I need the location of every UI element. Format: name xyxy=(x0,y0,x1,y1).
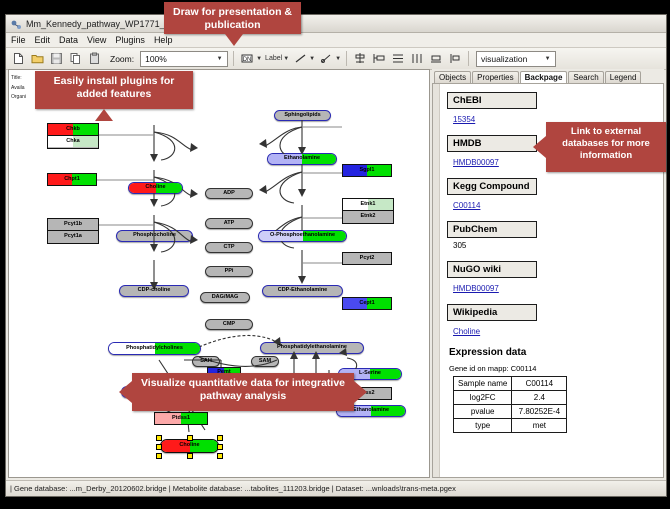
gene-chpt1[interactable]: Chpt1 xyxy=(47,173,97,186)
save-icon[interactable] xyxy=(48,51,64,67)
gene-etnk1[interactable]: Etnk1 xyxy=(343,199,393,211)
callout-visualize-arrow-left xyxy=(119,381,132,403)
resize-handle-sw[interactable] xyxy=(156,453,162,459)
db-link-kegg[interactable]: C00114 xyxy=(453,201,480,210)
db-link-hmdb[interactable]: HMDB00097 xyxy=(453,158,499,167)
callout-visualize: Visualize quantitative data for integrat… xyxy=(132,373,354,411)
table-row: type met xyxy=(454,419,567,433)
db-link-wikipedia[interactable]: Choline xyxy=(453,327,480,336)
backpage-scrollbar[interactable] xyxy=(433,84,440,477)
visualization-value: visualization xyxy=(479,54,542,64)
pathvisio-window: Mm_Kennedy_pathway_WP1771_45176.gpml Fil… xyxy=(5,14,667,497)
resize-handle-e[interactable] xyxy=(217,444,223,450)
table-row: pvalue 7.80252E-4 xyxy=(454,405,567,419)
node-choline-bottom[interactable]: Choline xyxy=(160,439,219,453)
callout-draw-arrow xyxy=(225,34,243,46)
resize-handle-n[interactable] xyxy=(187,435,193,441)
chevron-down-icon[interactable]: ▼ xyxy=(542,52,553,66)
paste-icon[interactable] xyxy=(86,51,102,67)
pathvisio-icon xyxy=(10,18,22,30)
gene-etnk2[interactable]: Etnk2 xyxy=(343,211,393,222)
menu-item-file[interactable]: File xyxy=(11,35,26,45)
expression-table: Sample name C00114 log2FC 2.4 pvalue 7.8… xyxy=(453,376,567,433)
menu-item-view[interactable]: View xyxy=(87,35,106,45)
resize-handle-nw[interactable] xyxy=(156,435,162,441)
right-panel-tabs: Objects Properties Backpage Search Legen… xyxy=(432,69,664,83)
distribute-horizontal-icon[interactable] xyxy=(409,51,425,67)
exp-key-type: type xyxy=(454,419,512,433)
zoom-label: Zoom: xyxy=(110,54,134,64)
exp-val-pvalue: 7.80252E-4 xyxy=(512,405,567,419)
align-left-icon[interactable] xyxy=(371,51,387,67)
gene-chkb[interactable]: Chkb xyxy=(48,124,98,136)
db-link-chebi[interactable]: 15354 xyxy=(453,115,475,124)
expression-data-heading: Expression data xyxy=(449,347,663,358)
visualization-combo[interactable]: visualization ▼ xyxy=(476,51,556,67)
line-icon[interactable] xyxy=(292,51,308,67)
title-bar: Mm_Kennedy_pathway_WP1771_45176.gpml xyxy=(6,15,666,33)
tab-legend[interactable]: Legend xyxy=(605,71,642,83)
distribute-vertical-icon[interactable] xyxy=(390,51,406,67)
callout-plugins-arrow xyxy=(95,109,113,121)
db-header-wikipedia: Wikipedia xyxy=(447,304,537,321)
db-value-pubchem: 305 xyxy=(453,241,663,250)
node-ethanolamine[interactable]: Ethanolamine xyxy=(267,153,337,165)
db-header-hmdb: HMDB xyxy=(447,135,537,152)
tab-search[interactable]: Search xyxy=(568,71,603,83)
table-row: log2FC 2.4 xyxy=(454,391,567,405)
node-ophosphoethanolamine[interactable]: O-Phosphoethanolamine xyxy=(258,230,347,242)
db-header-chebi: ChEBI xyxy=(447,92,537,109)
status-text: | Gene database: ...m_Derby_20120602.bri… xyxy=(10,484,456,493)
exp-val-type: met xyxy=(512,419,567,433)
toolbar-separator xyxy=(233,51,234,66)
tab-backpage[interactable]: Backpage xyxy=(520,71,568,83)
gene-sgpl1[interactable]: Sgpl1 xyxy=(342,164,392,177)
zoom-combo[interactable]: 100% ▼ xyxy=(140,51,228,67)
label-dropdown[interactable]: Label ▼ xyxy=(265,55,289,62)
callout-link: Link to external databases for more info… xyxy=(546,122,666,172)
callout-plugins: Easily install plugins for added feature… xyxy=(35,71,193,109)
gene-group-chk[interactable]: Chkb Chka xyxy=(47,123,99,149)
exp-key-sample-name: Sample name xyxy=(454,377,512,391)
db-link-nugo[interactable]: HMDB00097 xyxy=(453,284,499,293)
gene-id-line: Gene id on mapp: C00114 xyxy=(449,364,663,373)
datanode-icon[interactable]: DN xyxy=(239,51,255,67)
menu-bar: File Edit Data View Plugins Help xyxy=(6,33,666,48)
toolbar-separator xyxy=(468,51,469,66)
label-caption: Label xyxy=(265,55,282,62)
tab-objects[interactable]: Objects xyxy=(434,71,471,83)
exp-key-pvalue: pvalue xyxy=(454,405,512,419)
tab-properties[interactable]: Properties xyxy=(472,71,518,83)
exp-val-log2fc: 2.4 xyxy=(512,391,567,405)
node-choline-top[interactable]: Choline xyxy=(128,182,183,194)
db-header-pubchem: PubChem xyxy=(447,221,537,238)
gene-chka[interactable]: Chka xyxy=(48,136,98,147)
copy-icon[interactable] xyxy=(67,51,83,67)
gene-group-etnk[interactable]: Etnk1 Etnk2 xyxy=(342,198,394,224)
resize-handle-s[interactable] xyxy=(187,453,193,459)
node-phosphatidylcholines[interactable]: Phosphatidylcholines xyxy=(108,342,201,355)
menu-item-data[interactable]: Data xyxy=(59,35,78,45)
gene-ptdss1[interactable]: Ptdss1 xyxy=(154,412,208,425)
gene-pcyt1a[interactable]: Pcyt1a xyxy=(48,231,98,242)
resize-handle-ne[interactable] xyxy=(217,435,223,441)
exp-key-log2fc: log2FC xyxy=(454,391,512,405)
chevron-down-icon[interactable]: ▼ xyxy=(335,56,341,62)
gene-pcyt1b[interactable]: Pcyt1b xyxy=(48,219,98,231)
chevron-down-icon[interactable]: ▼ xyxy=(283,56,289,62)
line-dropdown[interactable]: ▼ xyxy=(292,51,315,67)
gene-group-pcyt1[interactable]: Pcyt1b Pcyt1a xyxy=(47,218,99,244)
datanode-dropdown[interactable]: DN ▼ xyxy=(239,51,262,67)
pathway-canvas[interactable]: Title: Availa Organi xyxy=(8,69,430,478)
interaction-icon[interactable] xyxy=(318,51,334,67)
order-icon[interactable] xyxy=(447,51,463,67)
svg-text:DN: DN xyxy=(243,57,252,63)
callout-draw: Draw for presentation & publication xyxy=(164,2,301,34)
gene-cept1[interactable]: Cept1 xyxy=(342,297,392,310)
new-file-icon[interactable] xyxy=(10,51,26,67)
db-header-nugo: NuGO wiki xyxy=(447,261,537,278)
menu-item-edit[interactable]: Edit xyxy=(35,35,51,45)
align-center-icon[interactable] xyxy=(352,51,368,67)
stack-icon[interactable] xyxy=(428,51,444,67)
menu-item-plugins[interactable]: Plugins xyxy=(115,35,145,45)
toolbar-separator xyxy=(346,51,347,66)
zoom-value: 100% xyxy=(143,54,214,64)
table-row: Sample name C00114 xyxy=(454,377,567,391)
callout-link-arrow xyxy=(533,136,546,158)
chevron-down-icon[interactable]: ▼ xyxy=(214,52,225,66)
open-folder-icon[interactable] xyxy=(29,51,45,67)
interaction-dropdown[interactable]: ▼ xyxy=(318,51,341,67)
resize-handle-se[interactable] xyxy=(217,453,223,459)
resize-handle-w[interactable] xyxy=(156,444,162,450)
callout-visualize-arrow-right xyxy=(354,381,367,403)
exp-val-sample-name: C00114 xyxy=(512,377,567,391)
menu-item-help[interactable]: Help xyxy=(154,35,173,45)
db-header-kegg: Kegg Compound xyxy=(447,178,537,195)
status-bar: | Gene database: ...m_Derby_20120602.bri… xyxy=(6,480,666,496)
chevron-down-icon[interactable]: ▼ xyxy=(309,56,315,62)
chevron-down-icon[interactable]: ▼ xyxy=(256,56,262,62)
gene-pcyt2[interactable]: Pcyt2 xyxy=(342,252,392,265)
